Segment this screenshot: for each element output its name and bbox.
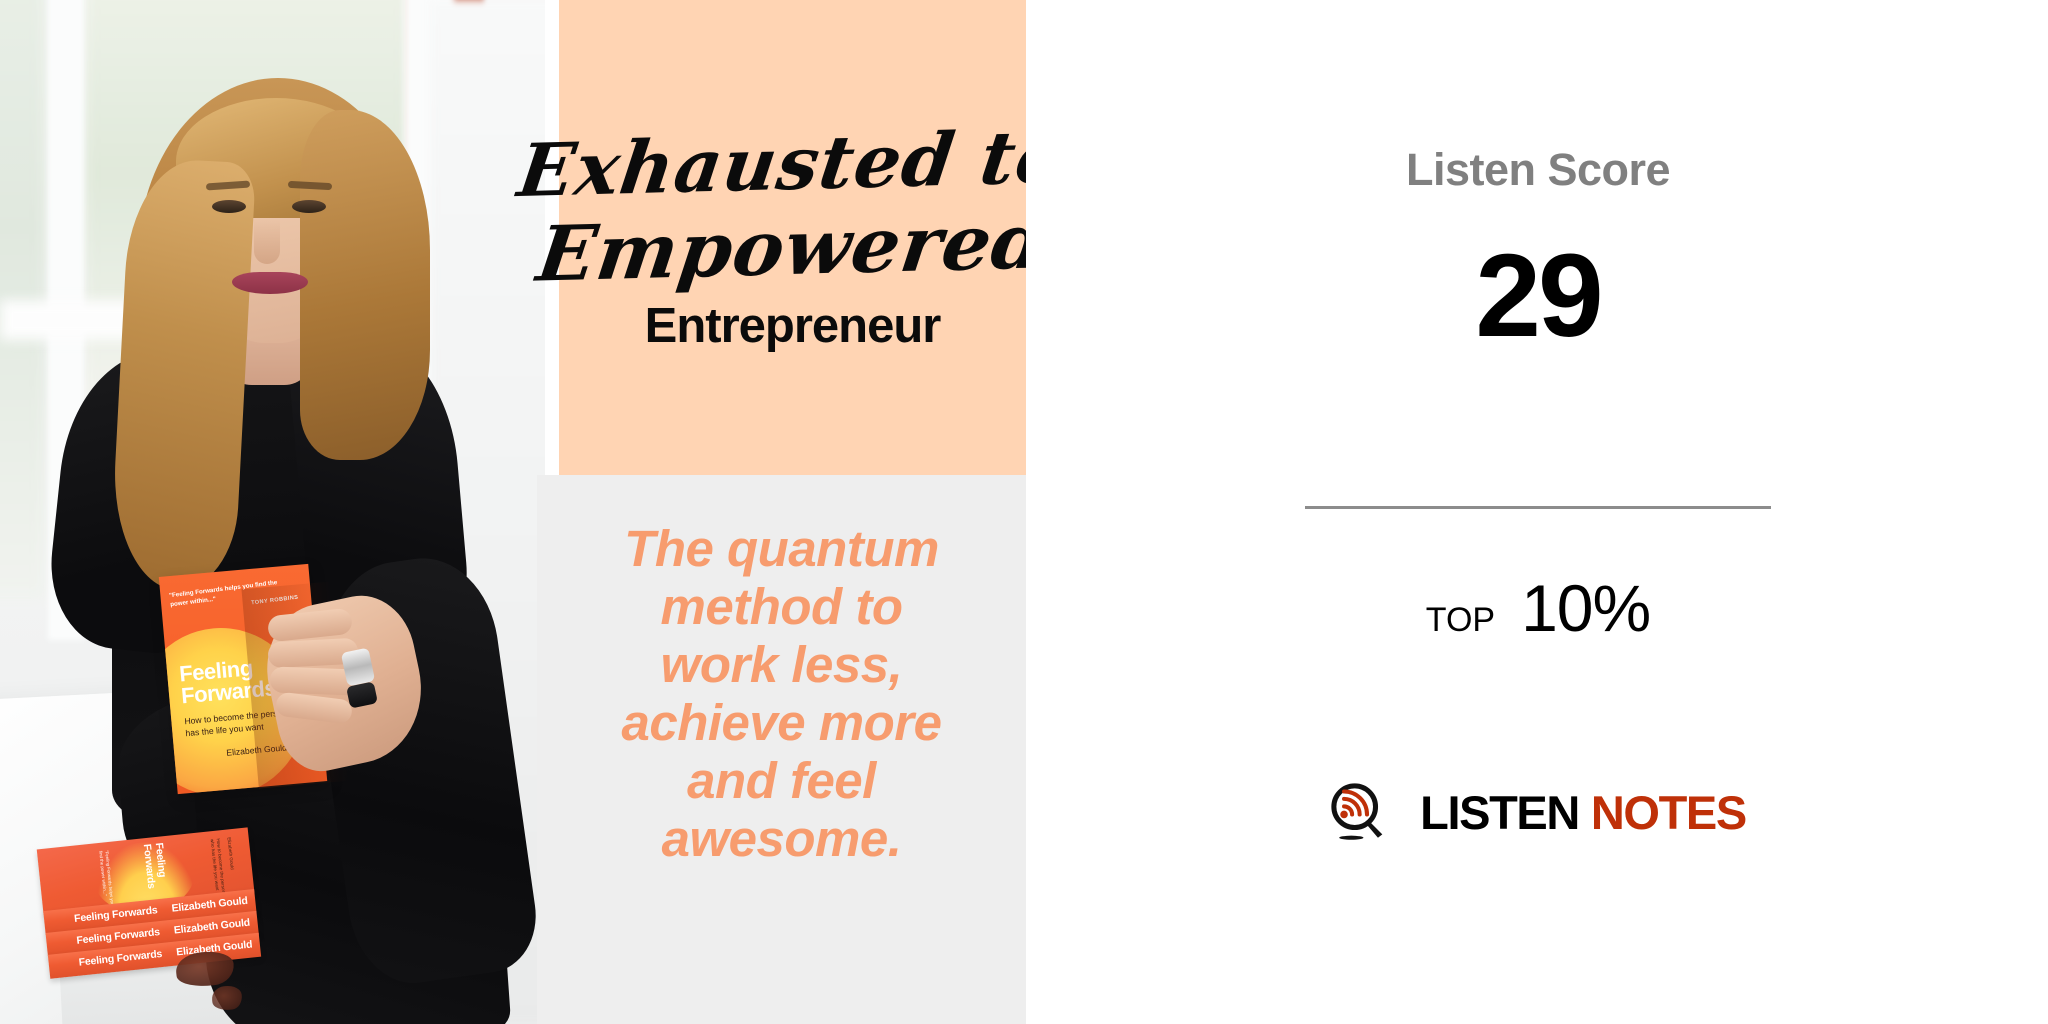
cover-tagline-band: The quantum method to work less, achieve… [537, 475, 1026, 1024]
listen-notes-logo[interactable]: LISTENNOTES [1305, 782, 1771, 844]
cover-title-bold-word: Entrepreneur [645, 299, 941, 353]
listen-notes-wordmark: LISTENNOTES [1420, 788, 1746, 838]
held-book-quote: "Feeling Forwards helps you find the pow… [169, 577, 299, 618]
top-percentile-row: TOP 10% [1305, 570, 1771, 646]
author-photo: "Feeling Forwards helps you find the pow… [0, 0, 545, 1024]
eye-left [212, 200, 246, 213]
magnifier-rss-icon [1330, 782, 1392, 844]
hair-right-strand [300, 110, 430, 460]
listen-score-value: 29 [1305, 228, 1771, 364]
book-spine-title: Feeling Forwards [78, 948, 163, 969]
cover-title-band: Exhausted to Empowered Entrepreneur [559, 0, 1026, 475]
book-spine-author: Elizabeth Gould [171, 895, 248, 915]
listen-score-content: Listen Score 29 TOP 10% [1305, 0, 1771, 1024]
listen-score-label: Listen Score [1305, 144, 1771, 196]
logo-word-notes: NOTES [1591, 786, 1746, 839]
eye-right [292, 200, 326, 213]
stacked-book-cover-blurb: "Feeling Forwards helps you find the pow… [63, 850, 115, 912]
podcast-cover-artwork[interactable]: "Feeling Forwards helps you find the pow… [0, 0, 1026, 1024]
nose [254, 218, 280, 264]
stacked-book-cover-subtitle: How to become the person who has the lif… [181, 838, 227, 900]
listen-notes-podcast-score-card: "Feeling Forwards helps you find the pow… [0, 0, 2048, 1024]
top-percentile-label: TOP [1426, 601, 1495, 640]
score-divider [1305, 506, 1771, 509]
cover-tagline: The quantum method to work less, achieve… [617, 520, 947, 868]
listen-score-panel: Listen Score 29 TOP 10% [1026, 0, 2048, 1024]
cover-title-script-line-1: Exhausted to [514, 115, 1026, 211]
logo-word-listen: LISTEN [1420, 786, 1579, 839]
top-percentile-value: 10% [1521, 570, 1650, 646]
cover-title-script-line-2: Empowered [533, 200, 1026, 295]
book-spine-author: Elizabeth Gould [173, 917, 250, 937]
stacked-book-cover-author: Elizabeth Gould [227, 837, 235, 870]
